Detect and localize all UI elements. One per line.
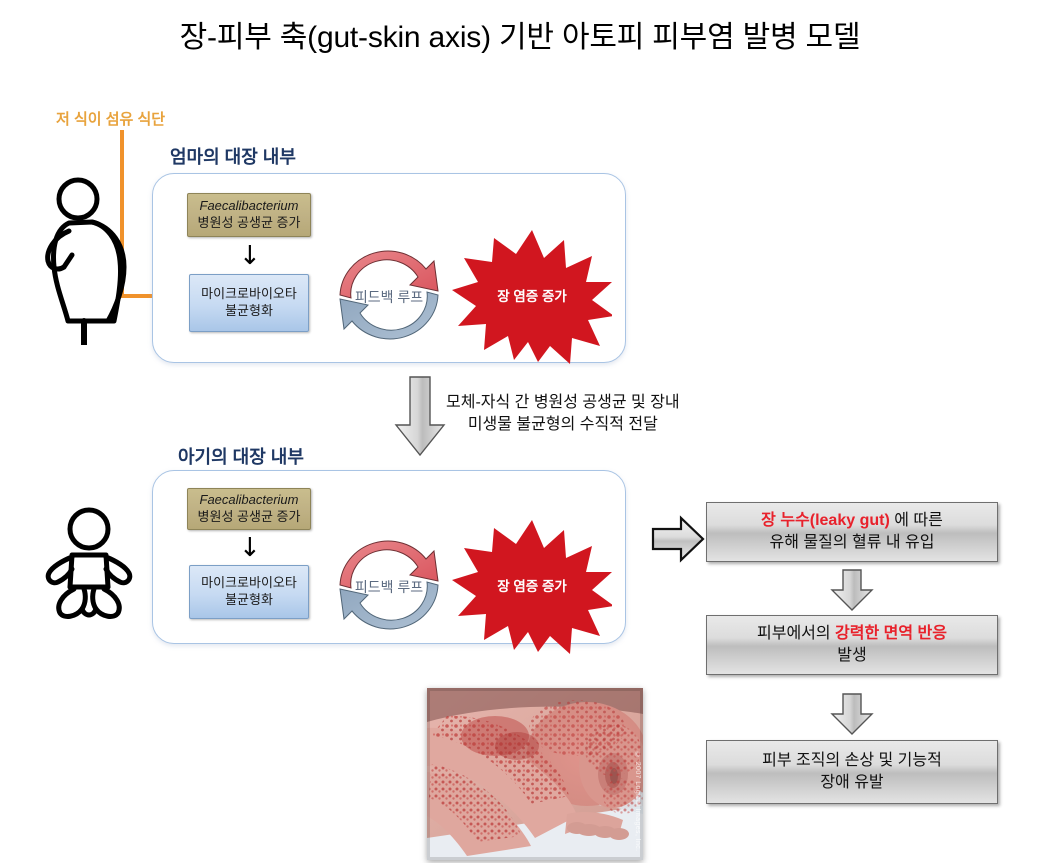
leaky-gut-line2: 유해 물질의 혈류 내 유입: [770, 534, 935, 551]
mother-microbiota-box: 마이크로바이오타 불균형화: [189, 274, 309, 332]
immune-response-line2: 발생: [837, 647, 866, 664]
mother-microbiota-line1: 마이크로바이오타: [201, 286, 297, 303]
baby-icon: [36, 505, 142, 620]
cascade-connector-arrow-2: [830, 692, 874, 736]
cascade-step-immune-response[interactable]: 피부에서의 강력한 면역 반응 발생: [706, 615, 998, 675]
baby-gut-inflammation-label: 장 염증 증가: [452, 575, 612, 595]
low-fiber-diet-label: 저 식이 섬유 식단: [56, 108, 165, 129]
immune-response-pre: 피부에서의: [757, 625, 835, 642]
vertical-transfer-line2: 미생물 불균형의 수직적 전달: [446, 414, 680, 436]
cascade-step-leaky-gut[interactable]: 장 누수(leaky gut) 에 따른 유해 물질의 혈류 내 유입: [706, 502, 998, 562]
tissue-damage-pre: 피부 조직의 손상 및 기능적: [762, 752, 942, 769]
mother-microbiota-line2: 불균형화: [225, 303, 273, 320]
cascade-step-tissue-damage[interactable]: 피부 조직의 손상 및 기능적 장애 유발: [706, 740, 998, 804]
baby-microbiota-box: 마이크로바이오타 불균형화: [189, 565, 309, 619]
baby-microbiota-line1: 마이크로바이오타: [201, 575, 297, 592]
page-title: 장-피부 축(gut-skin axis) 기반 아토피 피부염 발병 모델: [0, 12, 1040, 56]
leaky-gut-highlight: 장 누수(leaky gut): [761, 512, 890, 529]
baby-faecalibacterium-latin: Faecalibacterium: [200, 492, 299, 509]
photo-artwork: [427, 688, 643, 860]
photo-watermark: © 2007 Logical Images, Inc.: [634, 752, 641, 852]
baby-faecalibacterium-line2: 병원성 공생균 증가: [198, 509, 301, 526]
mother-faecalibacterium-box: Faecalibacterium 병원성 공생균 증가: [187, 193, 311, 237]
vertical-transfer-arrow-icon: [394, 375, 446, 457]
infant-atopic-dermatitis-photo: © 2007 Logical Images, Inc.: [427, 688, 643, 860]
baby-feedback-loop-label: 피드백 루프: [333, 577, 445, 597]
vertical-transfer-line1: 모체-자식 간 병원성 공생균 및 장내: [446, 392, 680, 414]
baby-microbiota-line2: 불균형화: [225, 592, 273, 609]
mother-down-arrow-icon: ↓: [239, 243, 261, 269]
cascade-connector-arrow-1: [830, 568, 874, 612]
leaky-gut-post: 에 따른: [890, 512, 943, 529]
baby-section-heading: 아기의 대장 내부: [178, 443, 304, 469]
baby-faecalibacterium-box: Faecalibacterium 병원성 공생균 증가: [187, 488, 311, 530]
mother-section-heading: 엄마의 대장 내부: [170, 143, 296, 169]
baby-down-arrow-icon: ↓: [239, 535, 261, 561]
diagram-canvas: 장-피부 축(gut-skin axis) 기반 아토피 피부염 발병 모델 저…: [0, 0, 1040, 863]
immune-response-highlight: 강력한 면역 반응: [835, 625, 947, 642]
mother-faecalibacterium-latin: Faecalibacterium: [200, 198, 299, 215]
pregnant-woman-icon: [36, 175, 146, 345]
mother-faecalibacterium-line2: 병원성 공생균 증가: [198, 215, 301, 232]
vertical-transfer-text: 모체-자식 간 병원성 공생균 및 장내 미생물 불균형의 수직적 전달: [446, 392, 680, 435]
tissue-damage-line2: 장애 유발: [820, 774, 883, 791]
mother-gut-inflammation-label: 장 염증 증가: [452, 285, 612, 305]
cascade-right-arrow-icon: [651, 515, 707, 563]
mother-feedback-loop-label: 피드백 루프: [333, 287, 445, 307]
